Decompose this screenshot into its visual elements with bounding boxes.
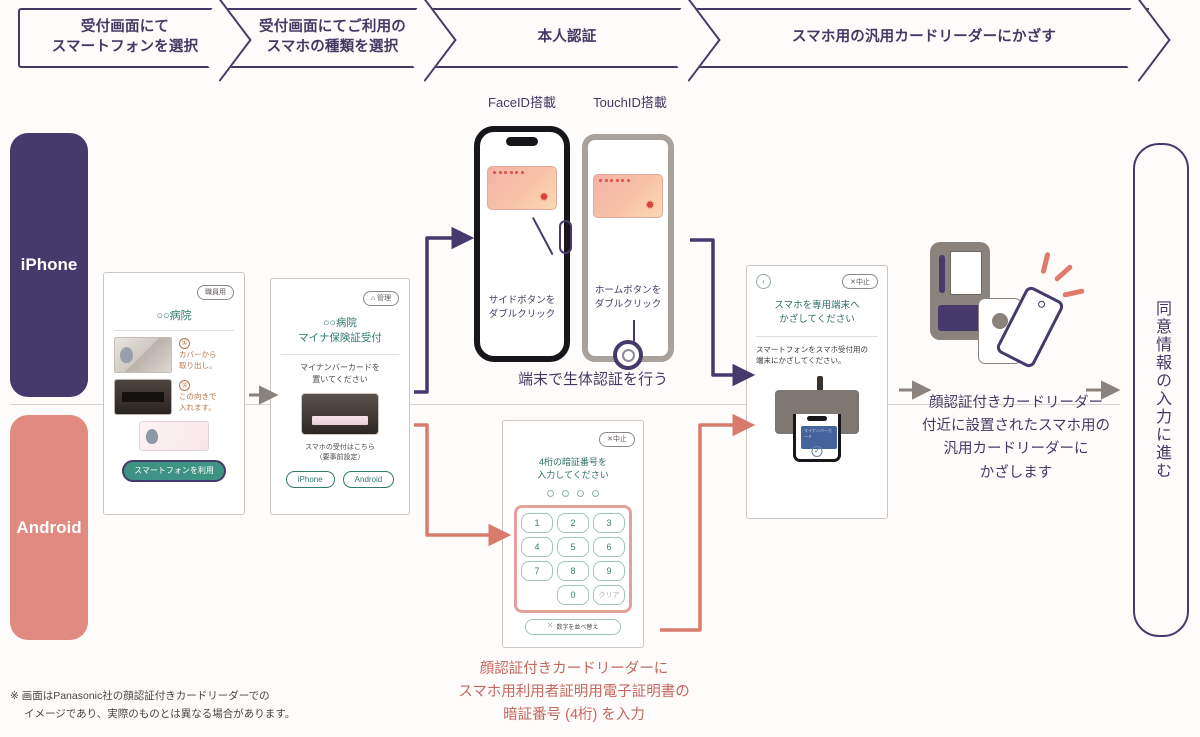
step-1-line2: スマートフォンを選択	[52, 38, 199, 58]
reader-caption: 顔認証付きカードリーダー 付近に設置されたスマホ用の 汎用カードリーダーに かざ…	[900, 392, 1132, 485]
goal-text: 同意情報の入力に進む	[1149, 300, 1173, 480]
step-item-4[interactable]: スマホ用の汎用カードリーダーにかざす	[699, 8, 1149, 68]
smartphone-reception-note: スマホの受付はこちら （要事前設定）	[281, 443, 399, 464]
staff-badge: 職員用	[197, 285, 234, 300]
chevron-notch-4	[1107, 0, 1170, 82]
reader-body-line1: スマートフォンをスマホ受付用の	[756, 344, 878, 356]
shuffle-keys-button[interactable]: ⤫ 数字を並べ替え	[525, 619, 621, 635]
reader-strip	[939, 255, 945, 293]
key-2[interactable]: 2	[557, 513, 589, 533]
lane-label-iphone: iPhone	[10, 133, 88, 397]
key-9[interactable]: 9	[593, 561, 625, 581]
cancel-badge[interactable]: ✕中止	[599, 432, 635, 447]
digital-mynacard: ✹	[487, 166, 557, 210]
step-2-text: この向きで入れます。	[179, 392, 217, 414]
step-1-text: カバーから取り出し。	[179, 350, 217, 372]
hospital-name: ○○病院	[114, 307, 234, 323]
screen-pin-entry: ✕中止 4桁の暗証番号を 入力してください 1 2 3 4 5 6 7 8 9 …	[502, 420, 644, 648]
star-icon: ✹	[645, 199, 655, 211]
reader-title: スマホを専用端末へ かざしてください	[756, 299, 878, 328]
step-item-2[interactable]: 受付画面にてご利用の スマホの種類を選択	[230, 8, 435, 68]
pin-caption: 顔認証付きカードリーダーに スマホ用利用者証明用電子証明書の 暗証番号 (4桁)…	[398, 658, 750, 728]
phone-notch	[506, 137, 538, 146]
pin-dot-indicator	[511, 490, 635, 497]
step-2-line2: スマホの種類を選択	[259, 38, 406, 58]
reader-card-pad	[938, 305, 982, 331]
shuffle-icon: ⤫	[548, 623, 553, 630]
home-button-highlight[interactable]	[613, 340, 643, 370]
footnote-line2: イメージであり、実際のものとは異なる場合があります。	[10, 706, 440, 724]
reception-step-1: ① カバーから取り出し。	[114, 337, 234, 373]
touchid-instruction-line1: ホームボタンを	[588, 284, 668, 298]
side-button-highlight[interactable]	[559, 220, 572, 254]
reader-screen	[950, 251, 982, 295]
key-7[interactable]: 7	[521, 561, 553, 581]
pin-caption-line2: スマホ用利用者証明用電子証明書の	[398, 681, 750, 704]
key-5[interactable]: 5	[557, 537, 589, 557]
reader-caption-line4: かざします	[900, 462, 1132, 485]
reader-caption-line3: 汎用カードリーダーに	[900, 438, 1132, 461]
faceid-instruction-line1: サイドボタンを	[480, 294, 564, 308]
tap-ray	[1054, 264, 1074, 282]
key-1[interactable]: 1	[521, 513, 553, 533]
goal-box: 同意情報の入力に進む	[1133, 143, 1189, 637]
place-card-instruction: マイナンバーカードを 置いてください	[281, 362, 399, 386]
phone-notch	[807, 416, 827, 421]
pin-caption-line3: 暗証番号 (4桁) を入力	[398, 704, 750, 727]
instruction-line1: マイナンバーカードを	[281, 362, 399, 374]
step-2-line1: 受付画面にてご利用の	[259, 18, 406, 38]
step-breadcrumb-bar: 受付画面にて スマートフォンを選択 受付画面にてご利用の スマホの種類を選択 本…	[18, 8, 1184, 68]
camera-icon	[1037, 300, 1046, 309]
mynacard-image	[139, 421, 209, 451]
faceid-label: FaceID搭載	[470, 92, 574, 111]
touchid-instruction-line2: ダブルクリック	[588, 298, 668, 312]
lane-label-android: Android	[10, 415, 88, 640]
digital-mynacard: ✹	[593, 174, 663, 218]
wire-select-to-pin	[414, 425, 492, 535]
reader-body-text: スマートフォンをスマホ受付用の 端末にかざしてください。	[756, 344, 878, 367]
key-0[interactable]: 0	[557, 585, 589, 605]
reader-body-line2: 端末にかざしてください。	[756, 355, 878, 367]
wire-pin-to-reader	[660, 425, 736, 630]
note-line2: （要事前設定）	[281, 453, 399, 464]
pin-title-line1: 4桁の暗証番号を	[511, 456, 635, 470]
reception-step-2: ② この向きで入れます。	[114, 379, 234, 415]
reader-caption-line1: 顔認証付きカードリーダー	[900, 392, 1132, 415]
touchid-instruction: ホームボタンを ダブルクリック	[588, 284, 668, 313]
use-smartphone-button[interactable]: スマートフォンを利用	[122, 460, 226, 482]
wire-phones-to-reader	[690, 240, 736, 375]
hospital-title-line2: マイナ保険証受付	[281, 331, 399, 346]
cancel-badge[interactable]: ✕中止	[842, 274, 878, 289]
pin-title: 4桁の暗証番号を 入力してください	[511, 456, 635, 483]
reader-title-line2: かざしてください	[756, 313, 878, 327]
biometric-caption: 端末で生体認証を行う	[448, 368, 738, 389]
tap-ray	[1040, 252, 1050, 275]
phone-faceid-mockup: ✹ サイドボタンを ダブルクリック	[474, 126, 570, 362]
pin-caption-line1: 顔認証付きカードリーダーに	[398, 658, 750, 681]
step-4-line1: スマホ用の汎用カードリーダーにかざす	[792, 28, 1056, 48]
phone-touchid-mockup: ✹ ホームボタンを ダブルクリック	[582, 134, 674, 362]
screen-reception: 職員用 ○○病院 ① カバーから取り出し。 ② この向きで入れます。 スマートフ…	[103, 272, 245, 515]
screen-tap-reader: ‹ ✕中止 スマホを専用端末へ かざしてください スマートフォンをスマホ受付用の…	[746, 265, 888, 519]
pin-title-line2: 入力してください	[511, 469, 635, 483]
tap-ray	[1062, 288, 1085, 297]
phone-speaker	[615, 144, 641, 148]
divider	[281, 354, 399, 355]
hospital-title: ○○病院 マイナ保険証受付	[281, 316, 399, 346]
card-slot-image	[114, 379, 172, 415]
card-slot-illustration	[301, 393, 379, 435]
card-dots	[493, 171, 524, 174]
pin-keypad[interactable]: 1 2 3 4 5 6 7 8 9 0 クリア	[514, 505, 632, 613]
touchid-label: TouchID搭載	[578, 92, 682, 111]
platform-button-row: iPhone Android	[281, 471, 399, 488]
key-clear[interactable]: クリア	[593, 585, 625, 605]
back-icon[interactable]: ‹	[756, 274, 771, 289]
divider	[114, 330, 234, 331]
step-1-number: ①	[179, 338, 190, 349]
hospital-title-line1: ○○病院	[281, 316, 399, 331]
reader-tap-illustration	[925, 238, 1085, 368]
star-icon: ✹	[539, 191, 549, 203]
step-1-line1: 受付画面にて	[52, 18, 199, 38]
step-item-1[interactable]: 受付画面にて スマートフォンを選択	[18, 8, 230, 68]
leader-line	[532, 217, 553, 255]
note-line1: スマホの受付はこちら	[281, 443, 399, 454]
step-item-3[interactable]: 本人認証	[435, 8, 699, 68]
faceid-instruction: サイドボタンを ダブルクリック	[480, 294, 564, 323]
iphone-button[interactable]: iPhone	[286, 471, 335, 488]
faceid-instruction-line2: ダブルクリック	[480, 308, 564, 322]
key-blank	[521, 585, 553, 605]
instruction-line2: 置いてください	[281, 374, 399, 386]
lane-label-android-text: Android	[16, 518, 81, 538]
key-8[interactable]: 8	[557, 561, 589, 581]
key-3[interactable]: 3	[593, 513, 625, 533]
check-circle-icon: ✓	[812, 446, 823, 457]
screen-platform-select: ⌂ 管理 ○○病院 マイナ保険証受付 マイナンバーカードを 置いてください スマ…	[270, 278, 410, 515]
android-button[interactable]: Android	[343, 471, 395, 488]
footnote-line1: ※ 画面はPanasonic社の顔認証付きカードリーダーでの	[10, 688, 440, 706]
card-dots	[599, 179, 630, 182]
phone-shape: マイナンバーカード ✓	[793, 414, 841, 462]
footnote: ※ 画面はPanasonic社の顔認証付きカードリーダーでの イメージであり、実…	[10, 688, 440, 724]
lane-label-iphone-text: iPhone	[21, 255, 78, 275]
key-4[interactable]: 4	[521, 537, 553, 557]
tap-illustration: マイナンバーカード ✓	[769, 376, 865, 462]
reader-title-line1: スマホを専用端末へ	[756, 299, 878, 313]
reader-caption-line2: 付近に設置されたスマホ用の	[900, 415, 1132, 438]
step-3-line1: 本人認証	[538, 28, 597, 48]
step-2-number: ②	[179, 380, 190, 391]
mynacard-cover-image	[114, 337, 172, 373]
admin-badge[interactable]: ⌂ 管理	[363, 291, 399, 306]
key-6[interactable]: 6	[593, 537, 625, 557]
divider	[756, 336, 878, 337]
shuffle-label: 数字を並べ替え	[556, 622, 598, 631]
